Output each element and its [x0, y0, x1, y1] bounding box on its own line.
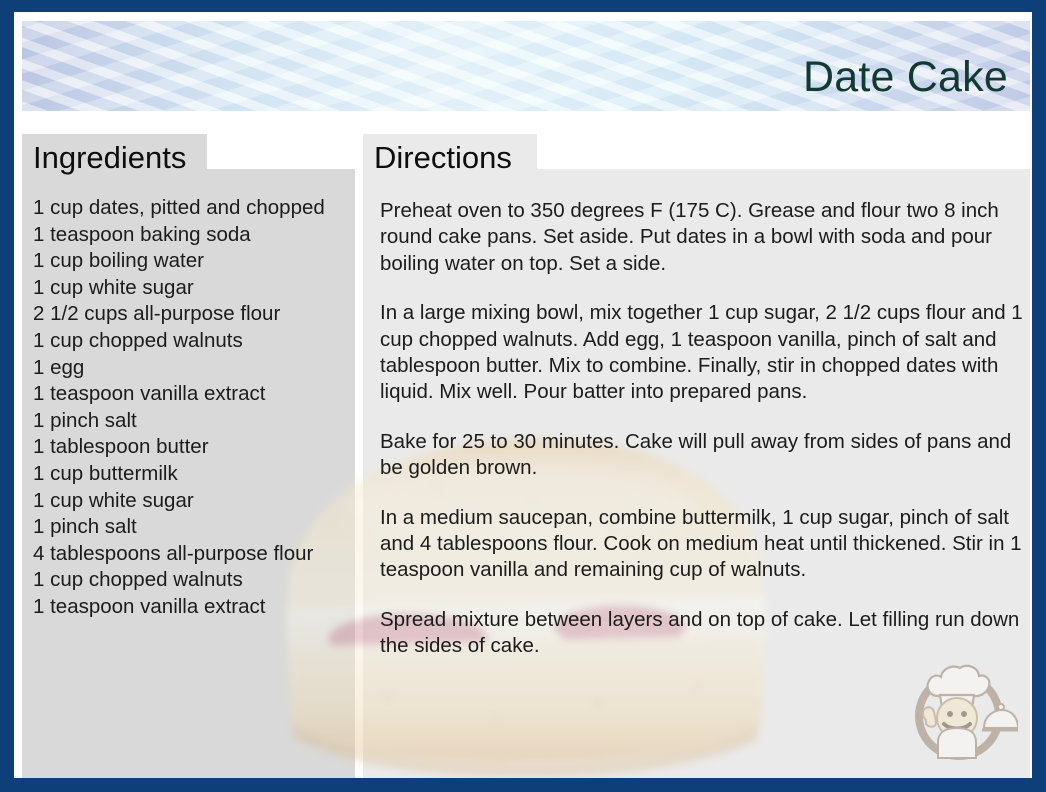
ingredient-item: 4 tablespoons all-purpose flour: [33, 541, 353, 568]
ingredient-item: 1 cup dates, pitted and chopped: [33, 195, 353, 222]
direction-paragraph: Preheat oven to 350 degrees F (175 C). G…: [380, 198, 1024, 277]
direction-paragraph: In a medium saucepan, combine buttermilk…: [380, 505, 1024, 584]
ingredient-item: 1 cup chopped walnuts: [33, 328, 353, 355]
directions-heading: Directions: [374, 142, 512, 173]
ingredients-list: 1 cup dates, pitted and chopped1 teaspoo…: [33, 195, 353, 621]
ingredient-item: 1 tablespoon butter: [33, 434, 353, 461]
ingredient-item: 1 pinch salt: [33, 514, 353, 541]
tab-directions: Directions: [363, 134, 537, 180]
direction-paragraph: Bake for 25 to 30 minutes. Cake will pul…: [380, 429, 1024, 482]
ingredient-item: 1 teaspoon vanilla extract: [33, 594, 353, 621]
ingredient-item: 1 egg: [33, 355, 353, 382]
ingredient-item: 1 cup boiling water: [33, 248, 353, 275]
direction-paragraph: In a large mixing bowl, mix together 1 c…: [380, 300, 1024, 406]
ingredient-item: 1 cup chopped walnuts: [33, 567, 353, 594]
ingredients-heading: Ingredients: [33, 142, 186, 173]
page-title: Date Cake: [803, 56, 1008, 99]
ingredient-item: 1 cup white sugar: [33, 488, 353, 515]
ingredient-item: 1 cup buttermilk: [33, 461, 353, 488]
directions-text: Preheat oven to 350 degrees F (175 C). G…: [380, 198, 1024, 660]
ingredient-item: 1 teaspoon baking soda: [33, 222, 353, 249]
recipe-page: Date Cake: [14, 12, 1032, 778]
ingredient-item: 2 1/2 cups all-purpose flour: [33, 301, 353, 328]
ingredient-item: 1 cup white sugar: [33, 275, 353, 302]
header-banner: Date Cake: [22, 21, 1030, 111]
recipe-card: Date Cake: [0, 0, 1046, 792]
ingredient-item: 1 pinch salt: [33, 408, 353, 435]
tab-ingredients: Ingredients: [22, 134, 207, 180]
direction-paragraph: Spread mixture between layers and on top…: [380, 607, 1024, 660]
ingredient-item: 1 teaspoon vanilla extract: [33, 381, 353, 408]
